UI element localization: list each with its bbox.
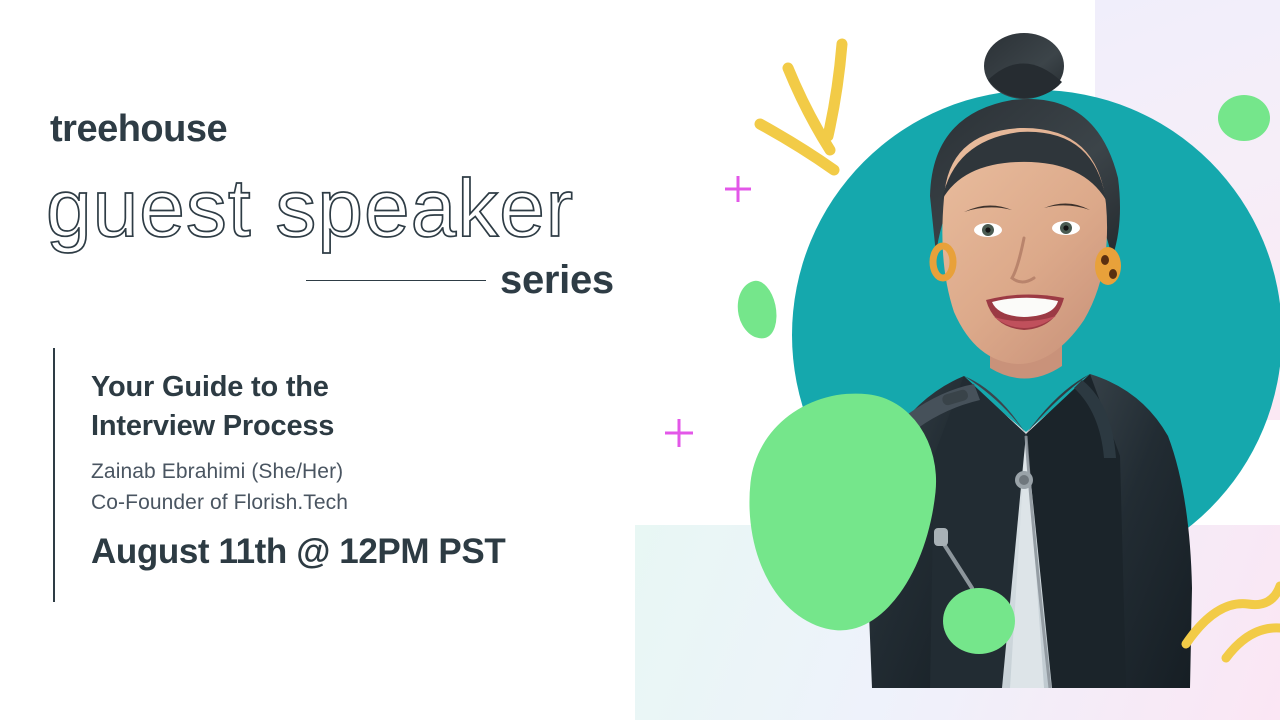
series-divider-rule xyxy=(306,280,486,281)
event-details: Your Guide to the Interview Process Zain… xyxy=(91,368,621,572)
speaker-name: Zainab Ebrahimi (She/Her) xyxy=(91,457,621,487)
talk-title: Your Guide to the Interview Process xyxy=(91,368,621,445)
series-headline: guest speaker xyxy=(44,160,644,260)
series-subword: series xyxy=(500,258,614,303)
series-headline-text: guest speaker xyxy=(46,163,574,254)
presentation-slide: treehouse guest speaker series Your Guid… xyxy=(0,0,1280,720)
magenta-plus-upper xyxy=(725,176,751,202)
green-dot-bottom-icon xyxy=(943,588,1015,654)
speaker-role: Co-Founder of Florish.Tech xyxy=(91,488,621,518)
talk-title-line-1: Your Guide to the xyxy=(91,371,329,403)
talk-title-line-2: Interview Process xyxy=(91,410,334,442)
brand-wordmark: treehouse xyxy=(50,108,227,151)
event-datetime: August 11th @ 12PM PST xyxy=(91,532,621,572)
detail-vertical-rule xyxy=(53,348,55,602)
green-blob-small-icon xyxy=(732,278,781,343)
magenta-plus-lower xyxy=(665,419,693,447)
